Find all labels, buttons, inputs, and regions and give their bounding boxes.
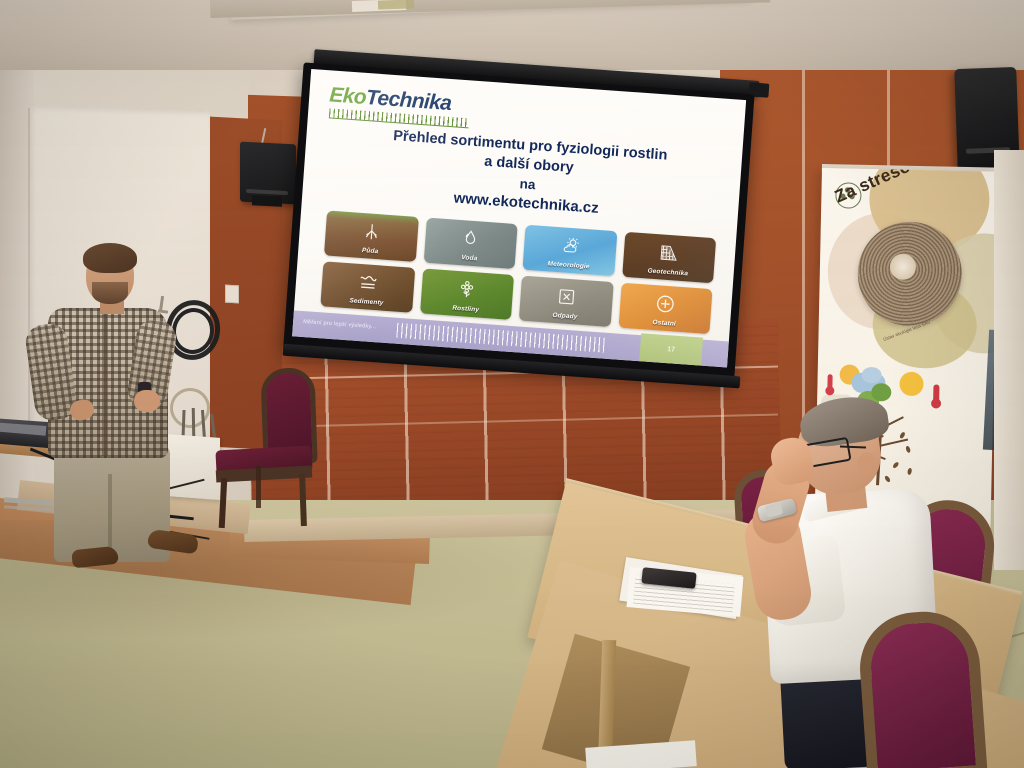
tile-rostliny[interactable]: Rostliny: [420, 268, 514, 319]
tile-voda[interactable]: Voda: [423, 218, 517, 269]
sun-cloud-icon: [523, 229, 616, 262]
tile-puda[interactable]: Půda: [324, 210, 418, 261]
presenter-beard: [92, 282, 128, 304]
tree-icon: [871, 383, 891, 401]
photo-scene: EkoTechnika Přehled sortimentu pro fyzio…: [0, 0, 1024, 768]
tile-sedimenty[interactable]: Sedimenty: [320, 261, 414, 312]
presenter-standing: [28, 248, 218, 568]
wall-outlet: [225, 285, 239, 304]
curtain: [994, 150, 1024, 570]
presenter-hair: [83, 243, 137, 273]
flower-icon: [421, 272, 514, 305]
ceiling-paper-sign-text: [378, 0, 414, 10]
slope-mesh-icon: [623, 236, 716, 269]
presenter-shoe-left: [71, 546, 119, 569]
chair-backrest[interactable]: [856, 608, 987, 768]
waterdrop-icon: [424, 222, 517, 255]
root-icon: [325, 214, 418, 247]
shirt-button-placket: [102, 310, 108, 456]
slide-title-block: Přehled sortimentu pro fyziologii rostli…: [330, 123, 726, 227]
presentation-slide: EkoTechnika Přehled sortimentu pro fyzio…: [292, 69, 746, 367]
logo-part-technika: Technika: [365, 86, 452, 115]
tile-meteorologie[interactable]: Meteorologie: [522, 225, 616, 276]
slide-page-number: 17: [639, 333, 703, 365]
wave-lines-icon: [321, 265, 414, 298]
attendee-ear: [858, 452, 876, 476]
xray-box-icon: [520, 280, 613, 313]
tile-geotechnika[interactable]: Geotechnika: [622, 232, 716, 283]
sun-icon: [899, 372, 923, 396]
projection-screen: EkoTechnika Přehled sortimentu pro fyzio…: [277, 58, 749, 390]
presenter-hand-right: [134, 390, 160, 412]
tile-odpady[interactable]: Odpady: [519, 276, 613, 327]
plus-circle-icon: [619, 287, 712, 320]
chair-leg: [256, 466, 261, 508]
speaker-bracket: [252, 195, 282, 207]
logo-part-eko: Eko: [329, 83, 367, 109]
ceiling: [0, 0, 1024, 70]
tile-ostatni[interactable]: Ostatní: [618, 283, 712, 334]
